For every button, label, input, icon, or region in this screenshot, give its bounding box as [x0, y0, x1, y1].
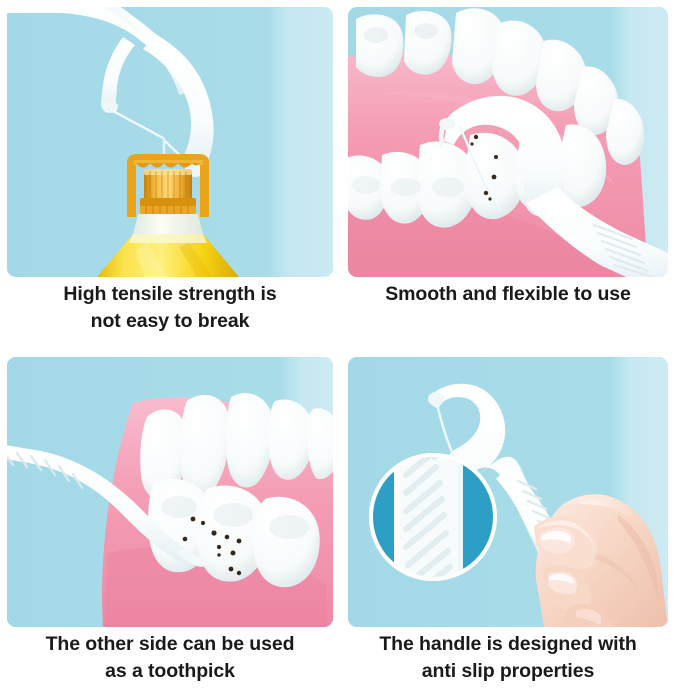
- panel-anti-slip-handle-caption: The handle is designed with anti slip pr…: [348, 631, 668, 685]
- caption-line-2: anti slip properties: [348, 658, 668, 685]
- panel-smooth-flexible-caption: Smooth and flexible to use: [348, 281, 668, 308]
- panel-tensile-strength: High tensile strength is not easy to bre…: [7, 7, 333, 277]
- caption-line-1: The other side can be used: [7, 631, 333, 658]
- feature-grid: High tensile strength is not easy to bre…: [0, 0, 679, 698]
- caption-line-1: The handle is designed with: [348, 631, 668, 658]
- caption-line-1: Smooth and flexible to use: [348, 281, 668, 308]
- panel-toothpick-side-image: [7, 357, 333, 627]
- panel-smooth-flexible-image: [348, 7, 668, 277]
- panel-toothpick-side-caption: The other side can be used as a toothpic…: [7, 631, 333, 685]
- panel-tensile-strength-image: [7, 7, 333, 277]
- panel-anti-slip-handle: The handle is designed with anti slip pr…: [348, 357, 668, 627]
- caption-line-2: not easy to break: [7, 308, 333, 335]
- caption-line-1: High tensile strength is: [7, 281, 333, 308]
- panel-smooth-flexible: Smooth and flexible to use: [348, 7, 668, 277]
- panel-anti-slip-handle-image: [348, 357, 668, 627]
- panel-tensile-strength-caption: High tensile strength is not easy to bre…: [7, 281, 333, 335]
- gold-bottle-cap: [140, 169, 196, 214]
- panel-toothpick-side: The other side can be used as a toothpic…: [7, 357, 333, 627]
- caption-line-2: as a toothpick: [7, 658, 333, 685]
